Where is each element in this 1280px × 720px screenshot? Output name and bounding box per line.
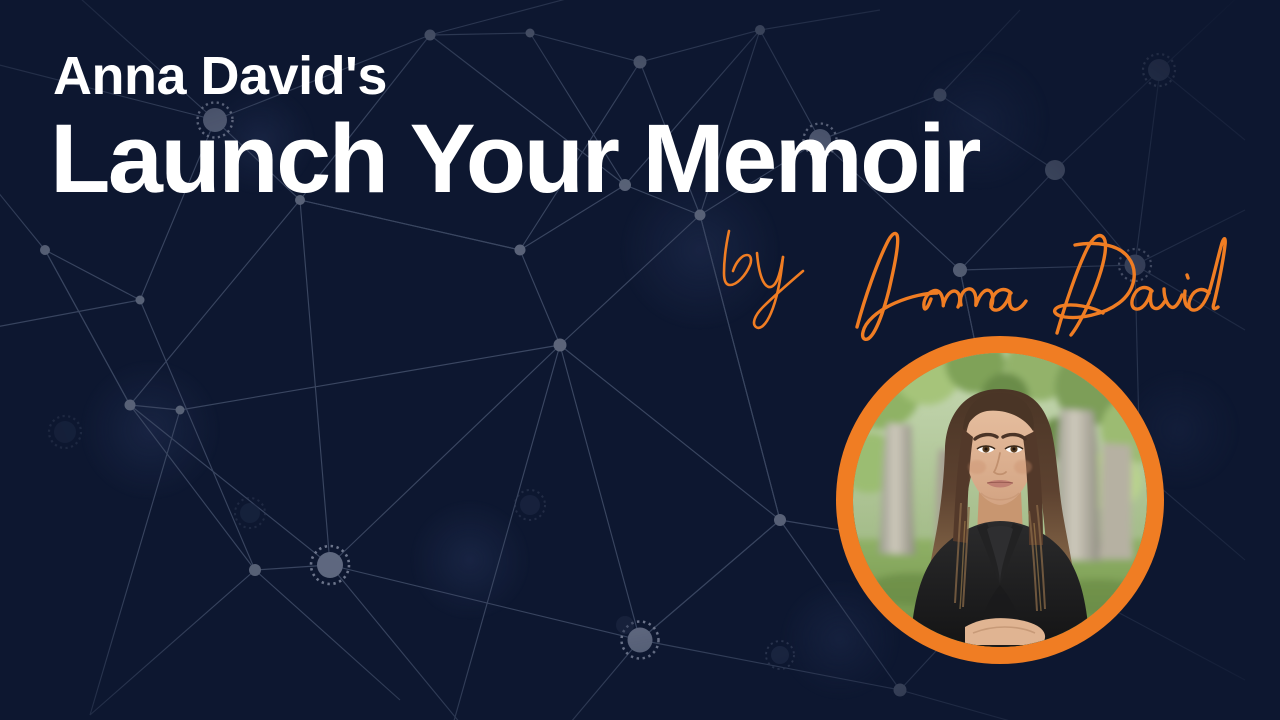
portrait-image xyxy=(853,353,1147,647)
author-signature xyxy=(705,215,1195,345)
slide-canvas: Anna David's Launch Your Memoir xyxy=(0,0,1280,720)
portrait-illustration xyxy=(853,353,1147,647)
signature-svg xyxy=(705,215,1195,345)
signature-by xyxy=(724,231,803,328)
page-title: Launch Your Memoir xyxy=(50,110,979,207)
author-portrait xyxy=(836,336,1164,664)
signature-name xyxy=(857,233,1225,339)
eyebrow-text: Anna David's xyxy=(53,49,387,103)
